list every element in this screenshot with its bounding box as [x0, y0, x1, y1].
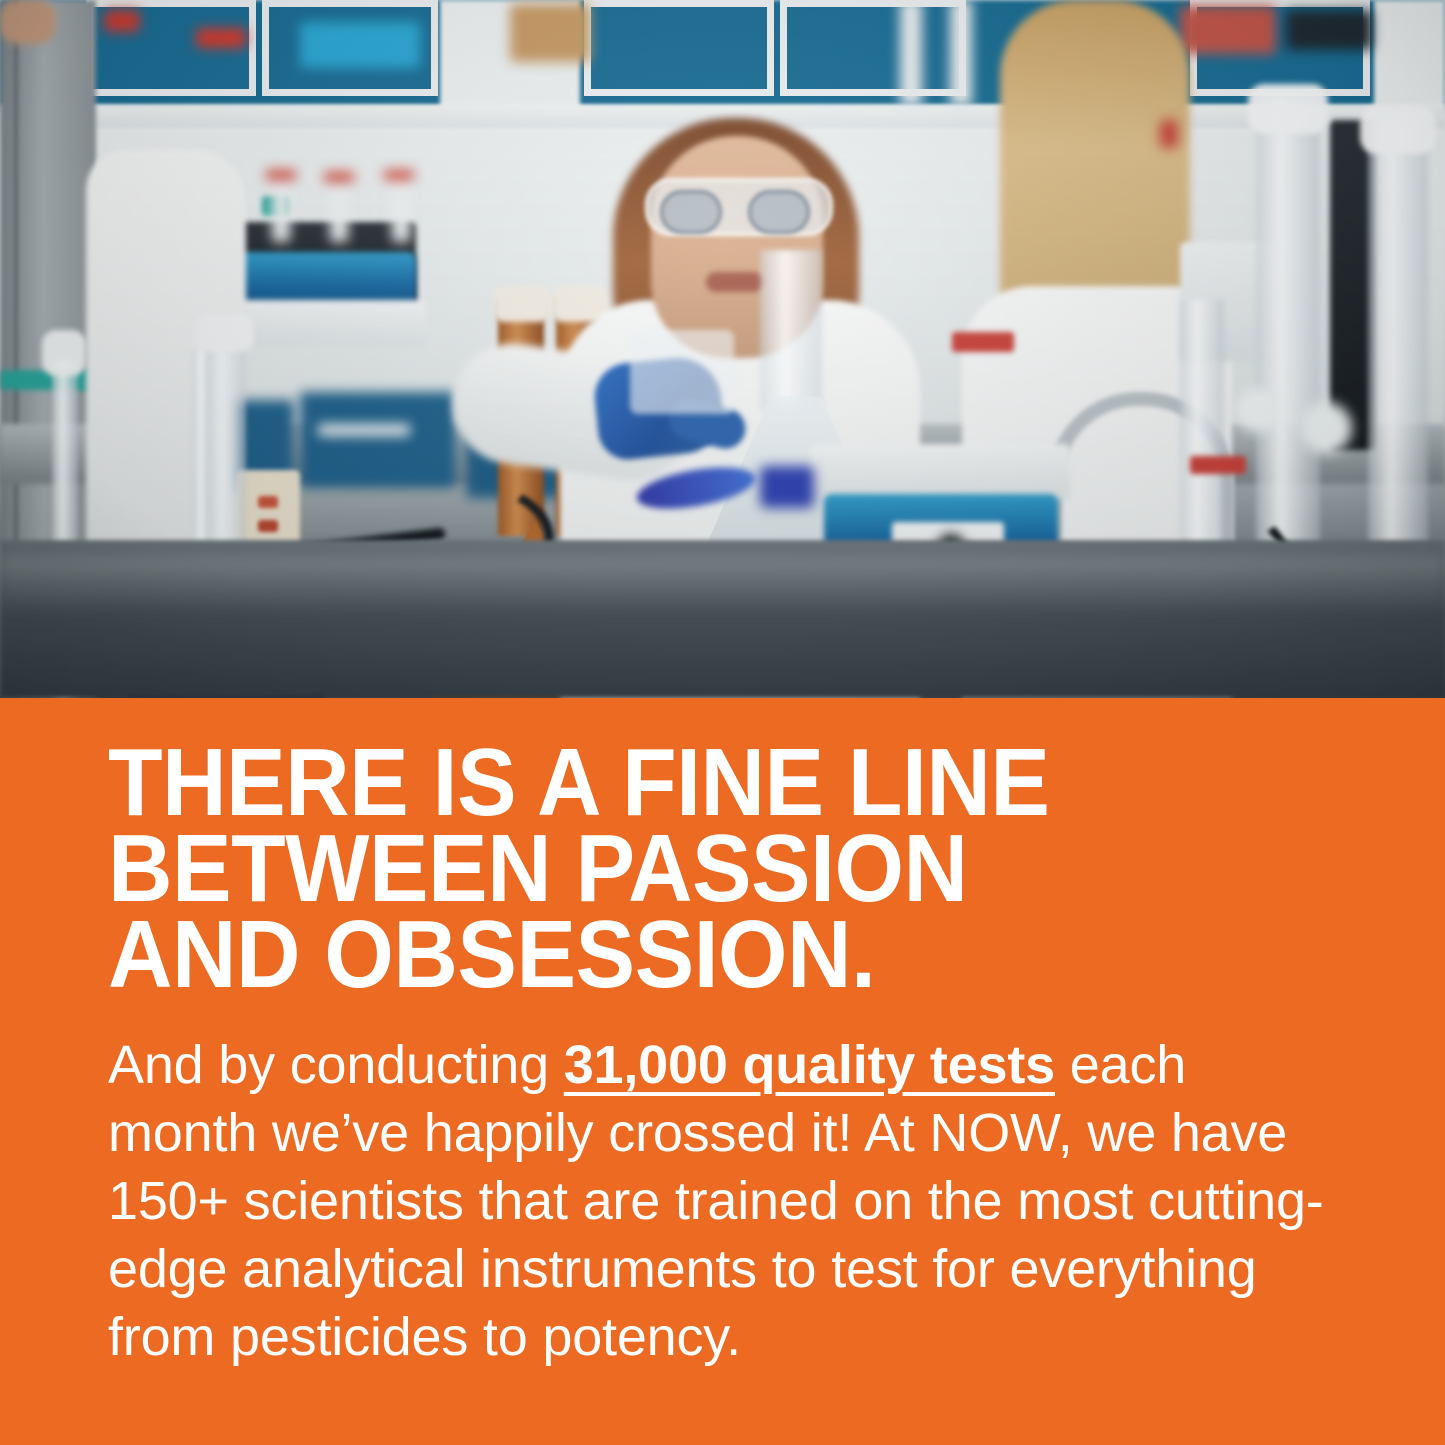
tube-cap: [324, 172, 354, 182]
cabinet-door: [780, 0, 966, 96]
body-copy: And by conducting 31,000 quality tests e…: [108, 1031, 1348, 1371]
flask-stopper: [196, 314, 254, 352]
equipment-accent: [1160, 120, 1178, 148]
sample-vial: [760, 466, 814, 508]
promo-poster: 500: [0, 0, 1445, 1445]
shelf-item-red: [196, 28, 246, 48]
bench-accent-red: [952, 332, 1014, 352]
tube-cap: [266, 170, 296, 180]
outlet-indicator: [258, 496, 278, 508]
scientist-center-mouth: [706, 272, 764, 292]
burette-top: [42, 330, 86, 376]
body-lead: And by conducting: [108, 1035, 564, 1095]
beaker: [630, 330, 734, 414]
column-fitting: [1236, 388, 1280, 432]
shelf-item-dark: [1286, 10, 1372, 50]
lower-cabinet: [300, 392, 456, 488]
outlet-indicator: [258, 520, 278, 532]
column-fitting: [1300, 402, 1352, 454]
scientist-right-hair: [1000, 0, 1190, 330]
message-panel: THERE IS A FINE LINE BETWEEN PASSION AND…: [0, 698, 1445, 1445]
shelf-divider: [950, 0, 972, 106]
shelf-item-red: [104, 10, 140, 32]
goggles-lens: [748, 190, 810, 234]
column-cap: [1360, 106, 1436, 154]
hero-photo: 500: [0, 0, 1445, 698]
headline: THERE IS A FINE LINE BETWEEN PASSION AND…: [108, 740, 1049, 998]
erlenmeyer-neck: [760, 250, 822, 410]
shelf-item-red: [1180, 6, 1276, 54]
column-cap: [1248, 84, 1328, 134]
flask-stopper: [494, 286, 550, 322]
quality-tests-highlight: 31,000 quality tests: [564, 1035, 1055, 1095]
goggles-lens: [660, 190, 722, 234]
cabinet-handle: [318, 424, 410, 436]
tube-cap: [384, 170, 414, 180]
scientist-left-hand: [0, 0, 56, 44]
shelf-item-blue: [300, 22, 420, 68]
bench-accent-red: [1190, 456, 1246, 474]
shelf-item-box: [510, 4, 590, 62]
cabinet-door: [584, 0, 774, 96]
lab-scene: 500: [0, 0, 1445, 698]
bench-reflection: [0, 556, 1445, 616]
shelf-divider: [900, 0, 922, 106]
